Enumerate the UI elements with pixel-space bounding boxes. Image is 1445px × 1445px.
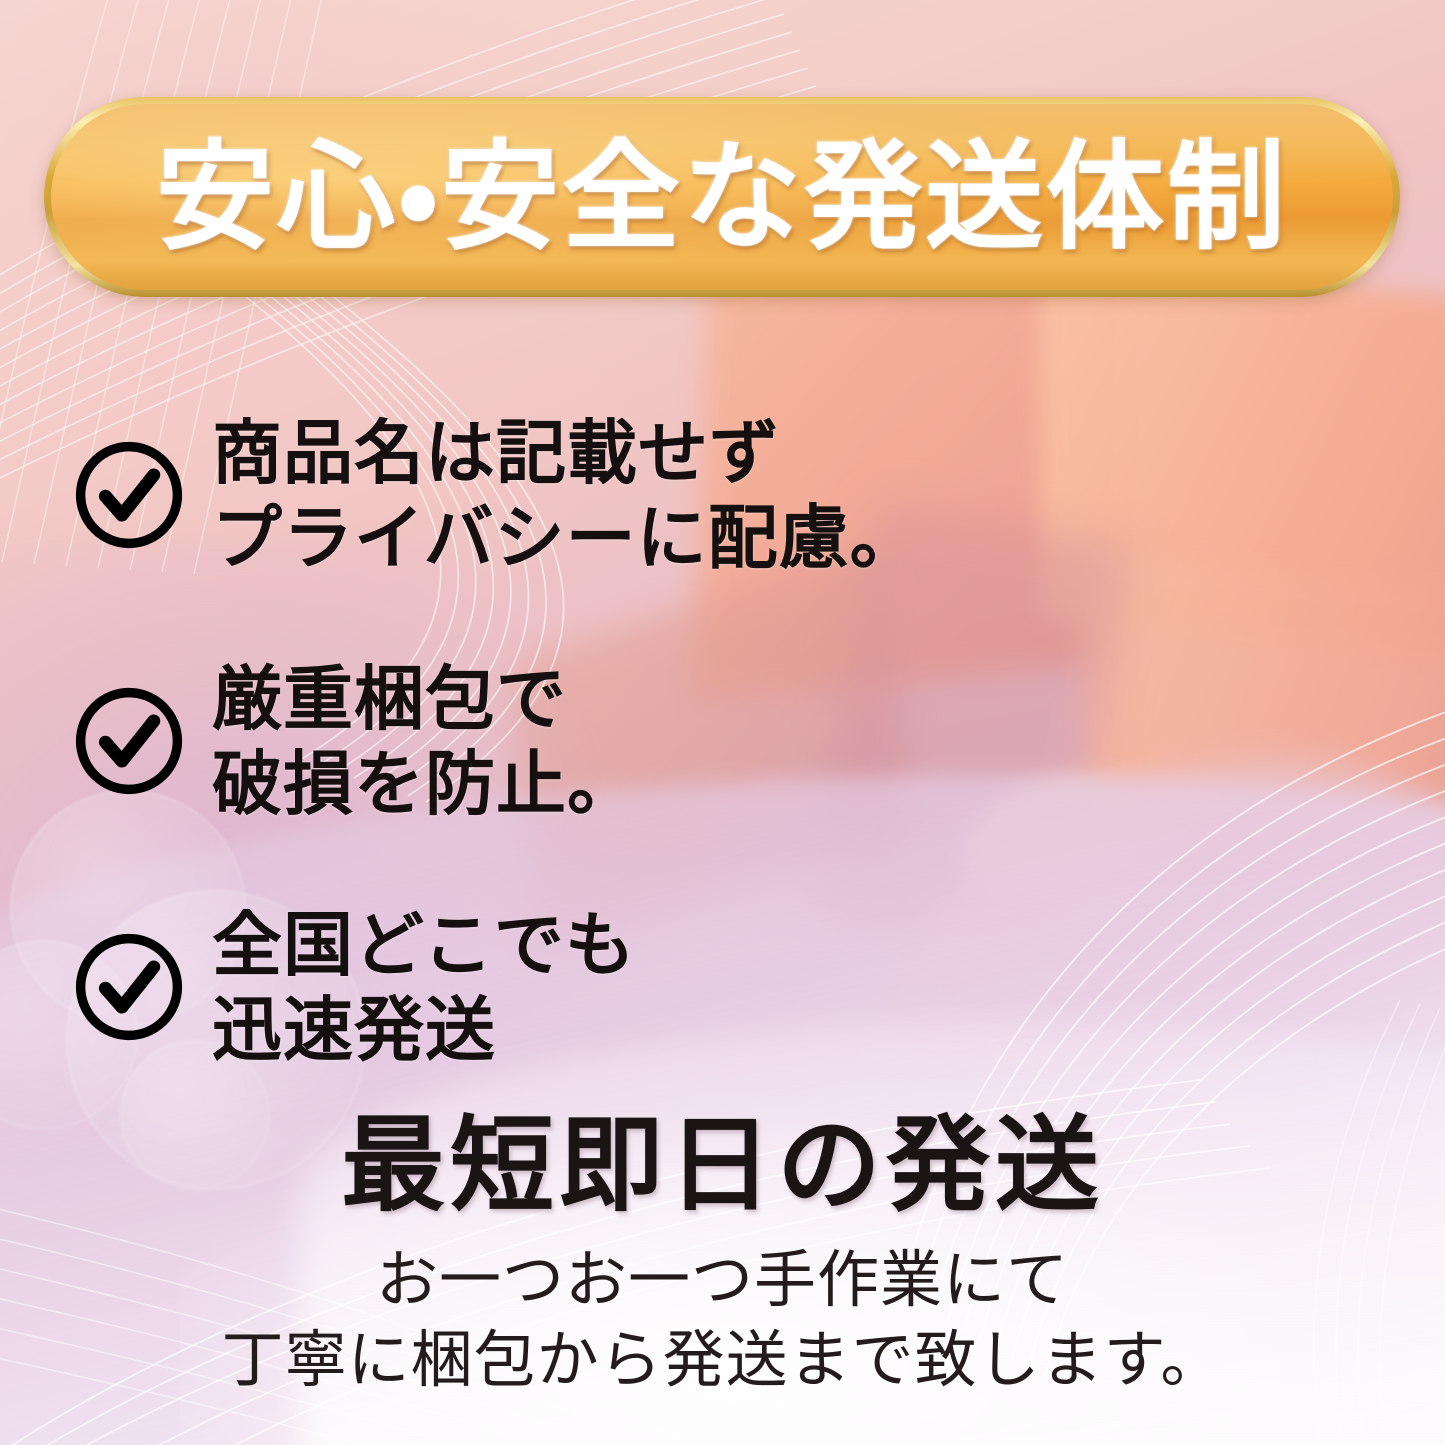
feature-item-text: 厳重梱包で 破損を防止。 <box>212 656 638 827</box>
header-pill-inner: 安心・安全な発送体制 <box>51 104 1393 290</box>
bottom-headline: 最短即日の発送 <box>0 1108 1445 1222</box>
feature-list: 商品名は記載せず プライバシーに配慮。 厳重梱包で 破損を防止。 <box>70 372 1070 1110</box>
feature-item-nationwide: 全国どこでも 迅速発送 <box>70 864 1070 1110</box>
page-title: 安心・安全な発送体制 <box>156 138 1288 256</box>
feature-line-1: 商品名は記載せず <box>212 410 921 495</box>
caption-line-1: お一つお一つ手作業にて <box>0 1240 1445 1319</box>
feature-item-privacy: 商品名は記載せず プライバシーに配慮。 <box>70 372 1070 618</box>
header-pill: 安心・安全な発送体制 <box>44 97 1400 297</box>
feature-line-2: 破損を防止。 <box>212 741 638 826</box>
caption-line-2: 丁寧に梱包から発送まで致します。 <box>0 1320 1445 1399</box>
feature-line-2: プライバシーに配慮。 <box>212 495 921 580</box>
promo-banner: 安心・安全な発送体制 商品名は記載せず プライバシーに配慮。 <box>0 0 1445 1445</box>
bottom-block: 最短即日の発送 お一つお一つ手作業にて 丁寧に梱包から発送まで致します。 <box>0 1108 1445 1399</box>
feature-line-1: 全国どこでも <box>212 902 636 987</box>
feature-item-text: 全国どこでも 迅速発送 <box>212 902 636 1073</box>
feature-item-text: 商品名は記載せず プライバシーに配慮。 <box>212 410 921 581</box>
circle-check-icon <box>70 928 188 1046</box>
feature-line-2: 迅速発送 <box>212 987 636 1072</box>
circle-check-icon <box>70 436 188 554</box>
feature-line-1: 厳重梱包で <box>212 656 638 741</box>
circle-check-icon <box>70 682 188 800</box>
bottom-caption: お一つお一つ手作業にて 丁寧に梱包から発送まで致します。 <box>0 1240 1445 1399</box>
feature-item-packaging: 厳重梱包で 破損を防止。 <box>70 618 1070 864</box>
